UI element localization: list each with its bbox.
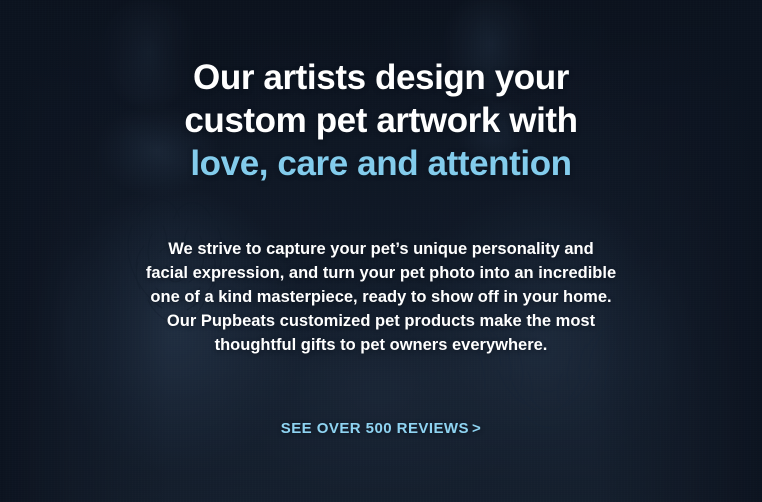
body-line-1: We strive to capture your pet’s unique p… <box>130 237 632 261</box>
body-line-5: thoughtful gifts to pet owners everywher… <box>130 333 632 357</box>
body-line-2: facial expression, and turn your pet pho… <box>130 261 632 285</box>
see-reviews-label: SEE OVER 500 REVIEWS <box>281 420 469 437</box>
headline-line-2: custom pet artwork with <box>70 99 692 142</box>
hero-content: Our artists design your custom pet artwo… <box>0 0 762 502</box>
headline-line-1: Our artists design your <box>70 56 692 99</box>
page-title: Our artists design your custom pet artwo… <box>0 56 762 185</box>
cta-container: SEE OVER 500 REVIEWS> <box>0 420 762 437</box>
body-line-4: Our Pupbeats customized pet products mak… <box>130 309 632 333</box>
headline-accent-line: love, care and attention <box>70 142 692 185</box>
hero-banner: Our artists design your custom pet artwo… <box>0 0 762 502</box>
body-line-3: one of a kind masterpiece, ready to show… <box>130 285 632 309</box>
see-reviews-link[interactable]: SEE OVER 500 REVIEWS> <box>281 420 481 437</box>
chevron-right-icon: > <box>472 420 481 437</box>
body-paragraph: We strive to capture your pet’s unique p… <box>0 237 762 357</box>
